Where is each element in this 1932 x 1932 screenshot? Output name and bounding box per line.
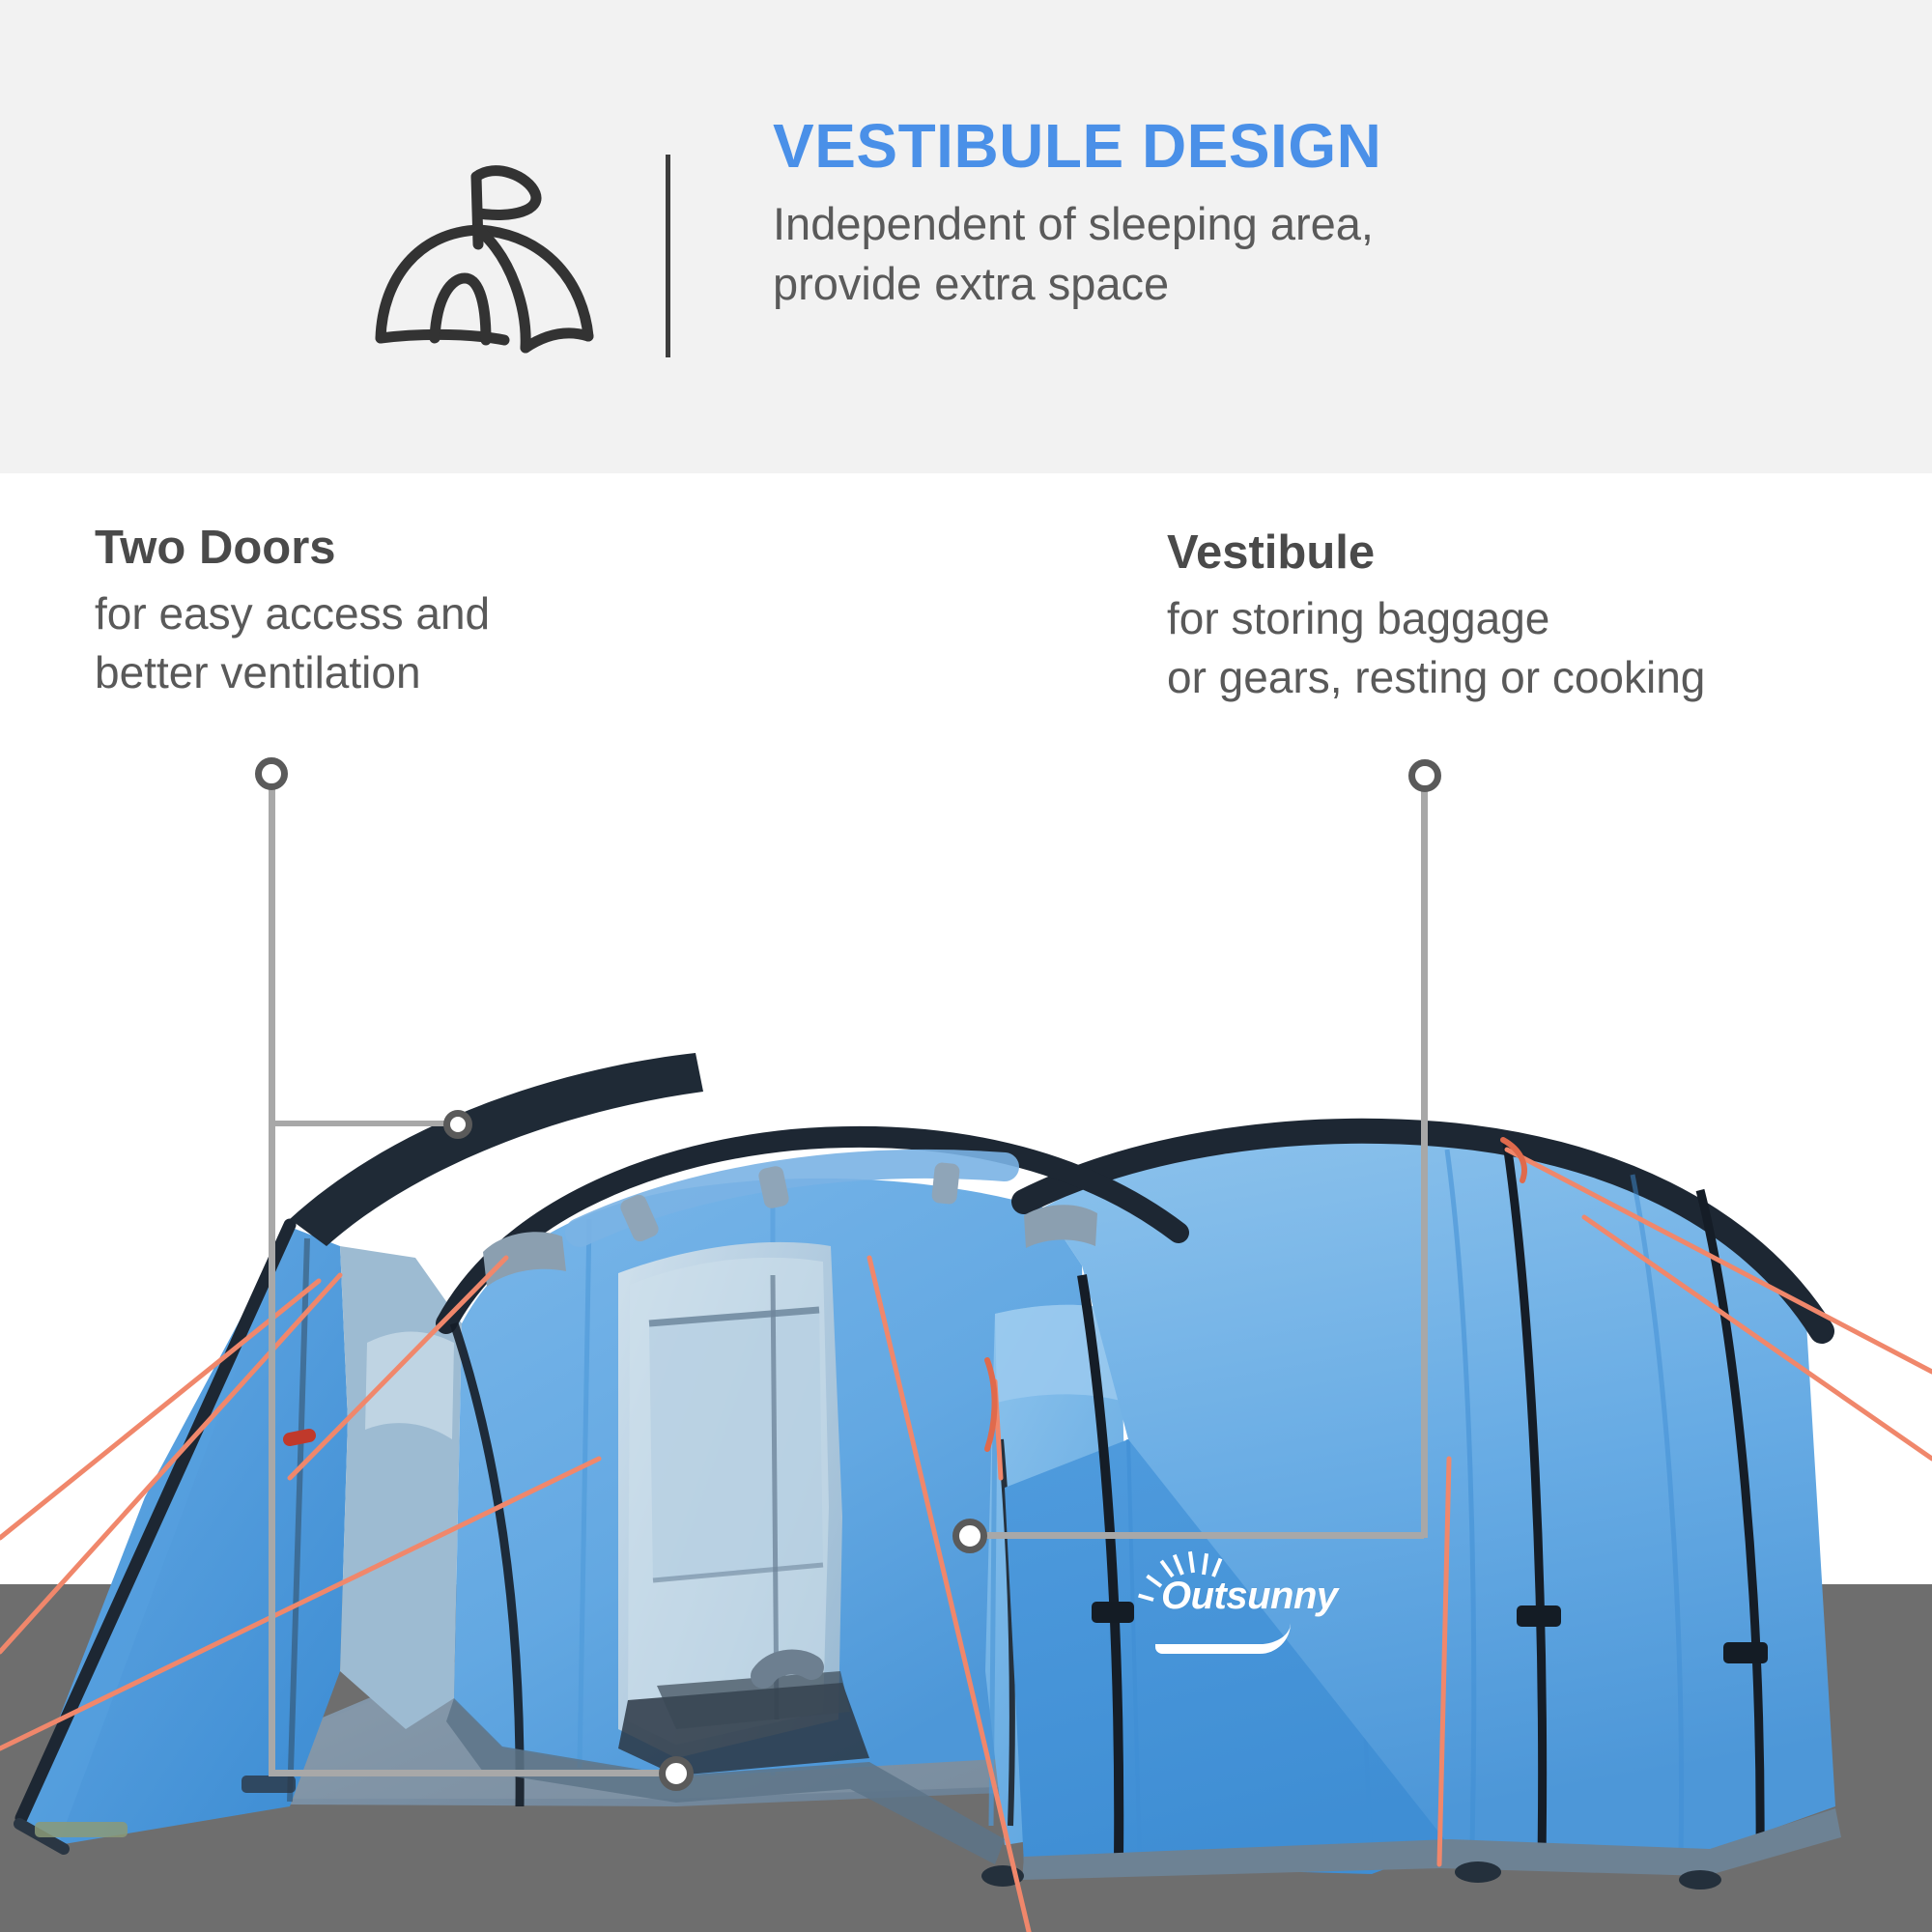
leader-line-left-vertical [269,779,275,1774]
outsunny-logo: Outsunny [1138,1553,1312,1660]
leader-dot-two-doors-bottom [659,1756,694,1791]
callout-two-doors-body: for easy access and better ventilation [95,584,713,701]
callout-vestibule-title: Vestibule [1167,526,1843,580]
callout-two-doors: Two Doors for easy access and better ven… [95,522,713,701]
callout-vestibule-body-line-1: for storing baggage [1167,589,1843,648]
leader-dot-vestibule-end [952,1519,987,1553]
callout-two-doors-body-line-2: better ventilation [95,643,713,702]
header-title: VESTIBULE DESIGN [773,114,1835,179]
leader-dot-two-doors-top [255,757,288,790]
outsunny-swoosh [1155,1623,1291,1654]
leader-line-left-branch [269,1121,458,1126]
header-text-block: VESTIBULE DESIGN Independent of sleeping… [773,114,1835,314]
leader-line-right-vertical [1421,781,1428,1538]
callout-vestibule: Vestibule for storing baggage or gears, … [1167,526,1843,706]
callout-two-doors-body-line-1: for easy access and [95,584,713,643]
leader-dot-vestibule-top [1408,759,1441,792]
infographic-root: VESTIBULE DESIGN Independent of sleeping… [0,0,1932,1932]
leader-line-right-horizontal [970,1532,1424,1539]
callout-two-doors-title: Two Doors [95,522,713,575]
callout-vestibule-body-line-2: or gears, resting or cooking [1167,648,1843,707]
callout-vestibule-body: for storing baggage or gears, resting or… [1167,589,1843,706]
leader-dot-two-doors-branch [443,1110,472,1139]
outsunny-wordmark: Outsunny [1161,1575,1338,1618]
leader-line-left-horizontal-bottom [269,1770,674,1776]
header-subtitle-line-1: Independent of sleeping area, [773,194,1835,254]
header-band: VESTIBULE DESIGN Independent of sleeping… [0,0,1932,473]
header-divider [666,155,670,357]
header-subtitle: Independent of sleeping area, provide ex… [773,194,1835,314]
tent-with-flag-icon [359,124,649,355]
header-subtitle-line-2: provide extra space [773,254,1835,314]
